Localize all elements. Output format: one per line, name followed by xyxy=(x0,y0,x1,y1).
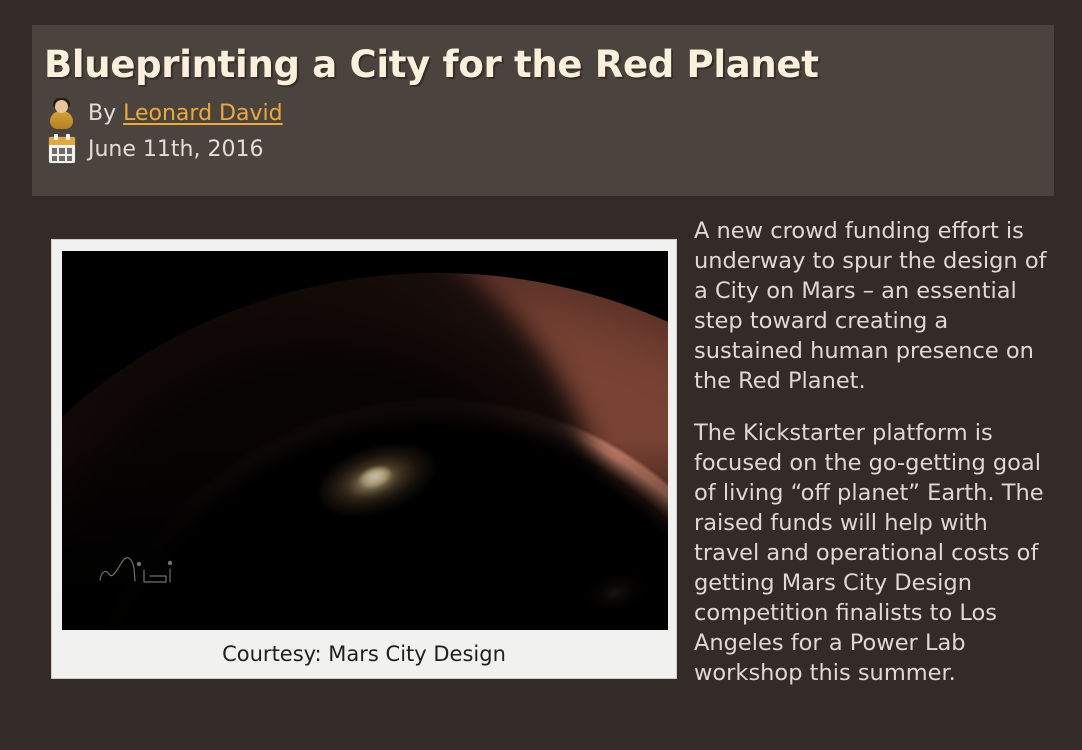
person-icon xyxy=(44,96,80,132)
mars-city-design-logo-icon xyxy=(98,552,198,592)
figure-caption: Courtesy: Mars City Design xyxy=(62,630,666,678)
author-link[interactable]: Leonard David xyxy=(123,101,282,126)
byline-prefix: By xyxy=(88,101,116,126)
article-paragraph: The Kickstarter platform is focused on t… xyxy=(694,418,1054,688)
mars-photo xyxy=(62,251,668,630)
article-header-panel: Blueprinting a City for the Red Planet B… xyxy=(32,25,1054,196)
article-body: A new crowd funding effort is underway t… xyxy=(694,216,1054,688)
page-title: Blueprinting a City for the Red Planet xyxy=(38,41,1054,89)
article-paragraph: A new crowd funding effort is underway t… xyxy=(694,216,1054,396)
byline-text: By Leonard David xyxy=(88,101,283,127)
dateline: June 11th, 2016 xyxy=(38,131,1054,169)
publish-date: June 11th, 2016 xyxy=(88,137,263,163)
article-figure: Courtesy: Mars City Design xyxy=(51,239,677,679)
calendar-icon xyxy=(44,132,80,168)
byline: By Leonard David xyxy=(38,95,1054,133)
mars-night-side xyxy=(62,440,668,630)
